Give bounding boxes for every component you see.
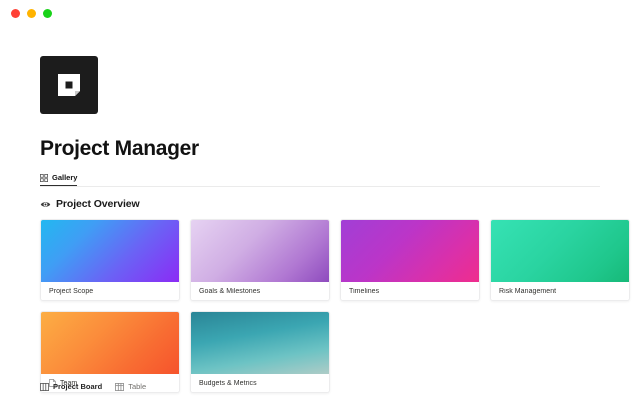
- gallery-card-goals-milestones[interactable]: Goals & Milestones: [190, 219, 330, 301]
- card-title: Timelines: [349, 288, 379, 295]
- card-cover: [341, 220, 479, 282]
- app-window: Project Manager Gallery: [0, 0, 640, 400]
- footer-tab-table[interactable]: Table: [115, 382, 146, 391]
- minimize-window-button[interactable]: [27, 9, 36, 18]
- card-title: Budgets & Metrics: [199, 380, 257, 387]
- eye-icon: [40, 199, 51, 210]
- view-tab-label: Gallery: [52, 173, 77, 182]
- close-window-button[interactable]: [11, 9, 20, 18]
- section-heading: Project Overview: [40, 198, 600, 210]
- board-icon: [40, 383, 49, 391]
- card-title: Project Scope: [49, 288, 93, 295]
- view-tab-gallery[interactable]: Gallery: [40, 173, 77, 186]
- footer-tab-label: Table: [128, 382, 146, 391]
- page-logo-wrapper: [40, 26, 600, 114]
- card-cover: [491, 220, 629, 282]
- gallery-card-project-scope[interactable]: Project Scope: [40, 219, 180, 301]
- footer-tab-project-board[interactable]: Project Board: [40, 382, 102, 391]
- card-cover: [191, 220, 329, 282]
- grid-icon: [40, 174, 48, 182]
- card-cover: [41, 312, 179, 374]
- gallery-grid: Project Scope Goals & Milestones Timelin…: [40, 219, 640, 393]
- card-label-row: Risk Management: [491, 282, 629, 300]
- footer-tab-bar: Project Board Table: [40, 382, 146, 391]
- card-label-row: Timelines: [341, 282, 479, 300]
- traffic-light-controls: [11, 9, 52, 18]
- window-titlebar: [0, 0, 640, 26]
- card-cover: [191, 312, 329, 374]
- gallery-card-risk-management[interactable]: Risk Management: [490, 219, 630, 301]
- gallery-card-timelines[interactable]: Timelines: [340, 219, 480, 301]
- page-content: Project Manager Gallery: [0, 26, 640, 400]
- section-title: Project Overview: [56, 198, 140, 210]
- card-title: Goals & Milestones: [199, 288, 260, 295]
- card-cover: [41, 220, 179, 282]
- gallery-card-team[interactable]: Team: [40, 311, 180, 393]
- maximize-window-button[interactable]: [43, 9, 52, 18]
- table-icon: [115, 383, 124, 391]
- notion-square-logo-icon: [40, 56, 98, 114]
- view-tab-bar: Gallery: [40, 169, 600, 187]
- gallery-card-budgets-metrics[interactable]: Budgets & Metrics: [190, 311, 330, 393]
- card-label-row: Project Scope: [41, 282, 179, 300]
- card-label-row: Budgets & Metrics: [191, 374, 329, 392]
- page-title: Project Manager: [40, 137, 600, 160]
- card-title: Risk Management: [499, 288, 556, 295]
- footer-tab-label: Project Board: [53, 382, 102, 391]
- card-label-row: Goals & Milestones: [191, 282, 329, 300]
